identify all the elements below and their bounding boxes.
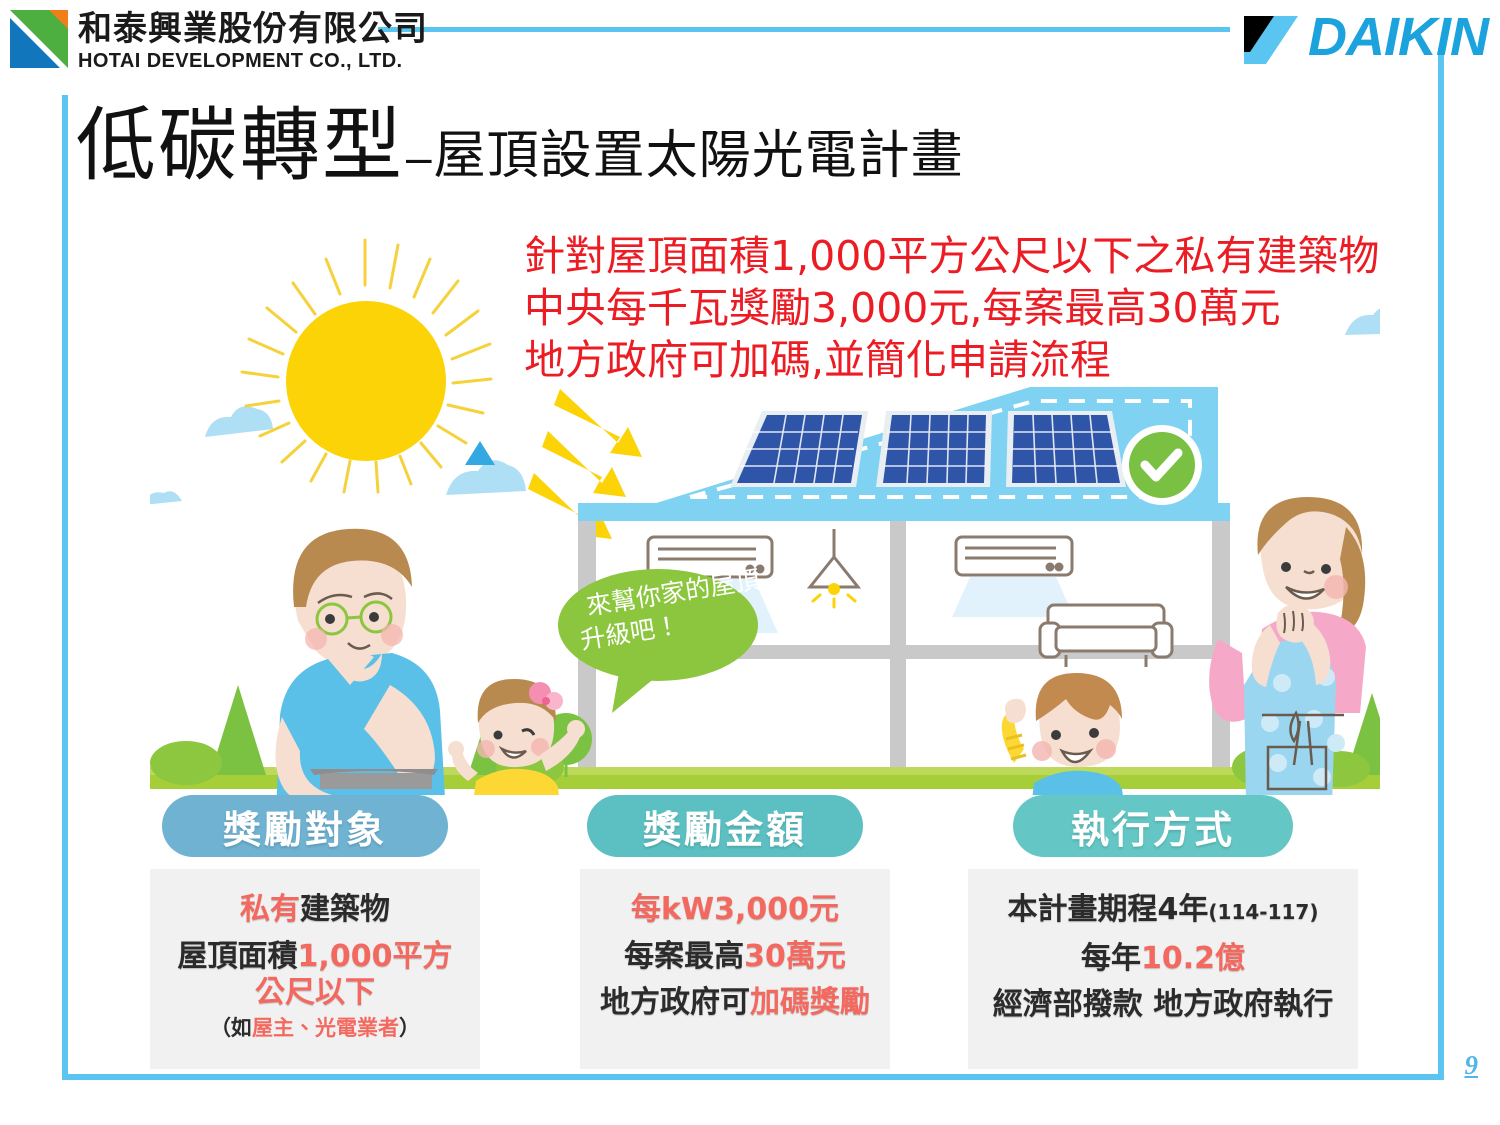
summary-cards: 獎勵對象 私有建築物 屋頂面積1,000平方 公尺以下 （如屋主、光電業者） — [150, 795, 1380, 1070]
card3-line1: 本計畫期程4年(114-117) — [1008, 891, 1319, 931]
card3-line2-a: 每年 — [1081, 941, 1141, 976]
solar-house-illustration: 來幫你家的屋頂 升級吧！ — [150, 215, 1380, 795]
frame-left-border — [62, 95, 68, 1080]
card-execution-method: 執行方式 本計畫期程4年(114-117) 每年10.2億 經濟部撥款 地方政府… — [968, 795, 1338, 1069]
green-check-icon — [1122, 425, 1202, 505]
page-title-dash: – — [404, 115, 434, 199]
card3-line3-a: 經濟部撥款 地方政府執行 — [993, 987, 1333, 1022]
card2-line1: 每kW3,000元 — [631, 891, 839, 929]
card-reward-amount-body: 每kW3,000元 每案最高30萬元 地方政府可加碼獎勵 — [580, 869, 890, 1069]
pill-reward-amount[interactable]: 獎勵金額 — [587, 795, 863, 857]
air-conditioner-icon — [956, 537, 1072, 575]
solar-panel-icon — [730, 411, 1126, 487]
header-divider-line — [378, 27, 1230, 32]
slide-root: 和泰興業股份有限公司 HOTAI DEVELOPMENT CO., LTD. D… — [0, 0, 1500, 1125]
pill-execution-method-label: 執行方式 — [1071, 799, 1235, 854]
card3-line1-b: (114-117) — [1208, 900, 1318, 924]
card3-line3: 經濟部撥款 地方政府執行 — [993, 987, 1333, 1023]
card3-line2-b: 10.2億 — [1141, 941, 1245, 976]
card1-line2: 屋頂面積1,000平方 — [178, 939, 453, 975]
card-reward-target-body: 私有建築物 屋頂面積1,000平方 公尺以下 （如屋主、光電業者） — [150, 869, 480, 1069]
card1-line1-b: 建築物 — [300, 892, 390, 927]
card2-line3-a: 地方政府可 — [600, 985, 750, 1020]
father-character — [275, 529, 446, 795]
page-title-sub: 屋頂設置太陽光電計畫 — [434, 114, 964, 198]
card1-note-b: 屋主、光電業者 — [252, 1016, 399, 1040]
pendant-lamp-icon — [810, 529, 858, 607]
card1-line3: 公尺以下 — [255, 975, 375, 1011]
daikin-chevron-icon — [1240, 6, 1302, 68]
card1-line2-a: 屋頂面積 — [178, 939, 298, 974]
card1-note-a: （如 — [210, 1016, 252, 1040]
cloud-triangle-icon — [465, 441, 495, 465]
company-name-block: 和泰興業股份有限公司 HOTAI DEVELOPMENT CO., LTD. — [78, 10, 428, 73]
daikin-brand-block: DAIKIN — [1240, 6, 1488, 68]
page-title-main: 低碳轉型 — [76, 104, 404, 188]
card3-line2: 每年10.2億 — [1081, 941, 1245, 977]
pill-reward-amount-label: 獎勵金額 — [643, 799, 807, 854]
page-title: 低碳轉型 – 屋頂設置太陽光電計畫 — [76, 104, 964, 199]
card1-line2-b: 1,000平方 — [298, 939, 453, 974]
card2-line1-a: 每kW3,000元 — [631, 892, 839, 927]
card1-line1: 私有建築物 — [240, 891, 390, 929]
daikin-wordmark: DAIKIN — [1308, 10, 1488, 64]
card2-line2: 每案最高30萬元 — [624, 939, 846, 975]
card-execution-method-body: 本計畫期程4年(114-117) 每年10.2億 經濟部撥款 地方政府執行 — [968, 869, 1358, 1069]
hotai-logo-icon — [8, 8, 70, 70]
pill-reward-target[interactable]: 獎勵對象 — [162, 795, 448, 857]
card-reward-target: 獎勵對象 私有建築物 屋頂面積1,000平方 公尺以下 （如屋主、光電業者） — [150, 795, 460, 1069]
card3-line1-a: 本計畫期程4年 — [1008, 892, 1209, 927]
page-number: 9 — [1465, 1050, 1479, 1081]
card-reward-amount: 獎勵金額 每kW3,000元 每案最高30萬元 地方政府可加碼獎勵 — [580, 795, 870, 1069]
roof-group — [578, 387, 1230, 521]
company-name-cn: 和泰興業股份有限公司 — [78, 10, 428, 48]
pill-execution-method[interactable]: 執行方式 — [1013, 795, 1293, 857]
mother-character — [1209, 497, 1366, 795]
pill-reward-target-label: 獎勵對象 — [223, 799, 387, 854]
card2-line3: 地方政府可加碼獎勵 — [600, 985, 870, 1021]
card1-note: （如屋主、光電業者） — [210, 1014, 420, 1042]
card1-note-c: ） — [399, 1016, 420, 1040]
frame-bottom-border — [62, 1074, 1444, 1080]
company-name-en: HOTAI DEVELOPMENT CO., LTD. — [78, 49, 428, 73]
sun-disc — [286, 301, 446, 461]
card2-line2-a: 每案最高 — [624, 939, 744, 974]
card2-line2-b: 30萬元 — [744, 939, 846, 974]
card1-line1-a: 私有 — [240, 892, 300, 927]
card1-line3-a: 公尺以下 — [255, 975, 375, 1010]
card2-line3-b: 加碼獎勵 — [750, 985, 870, 1020]
sun-icon — [242, 240, 491, 492]
frame-right-border — [1438, 48, 1444, 1080]
